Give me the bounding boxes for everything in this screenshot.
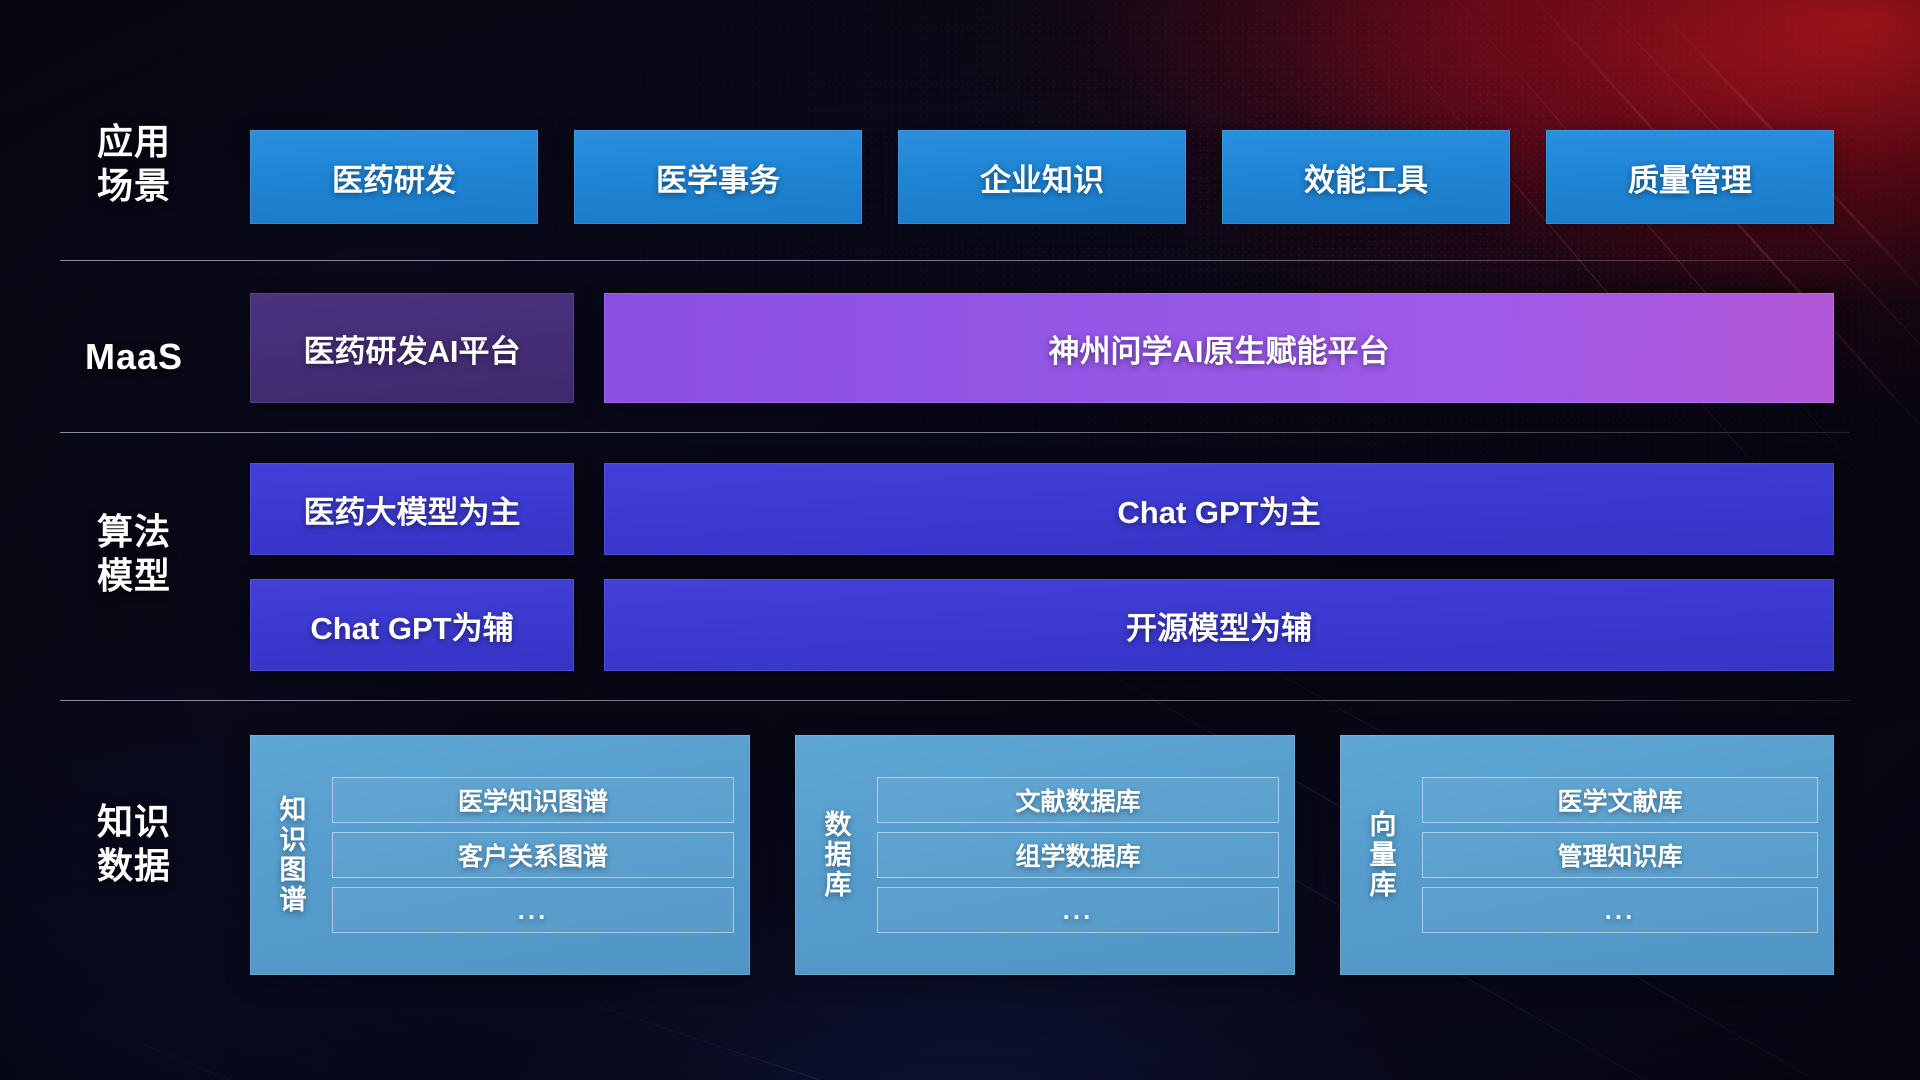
divider-1 [60,260,1850,261]
algo-tile-row0-left[interactable]: 医药大模型为主 [250,463,574,555]
app-tile-1[interactable]: 医学事务 [574,130,862,224]
app-tile-3[interactable]: 效能工具 [1222,130,1510,224]
layer-label-knowledge-data: 知识 数据 [70,800,198,888]
knowledge-item-2-2[interactable]: ... [1422,887,1818,933]
knowledge-panel-2-label: 向量库 [1354,810,1412,901]
algo-tile-row1-left-label: Chat GPT为辅 [310,603,513,648]
rail-line-2: 场景 [70,164,198,208]
knowledge-panel-1-items: 文献数据库 组学数据库 ... [867,777,1295,933]
knowledge-panel-wrap-1: 数据库 文献数据库 组学数据库 ... [795,735,1295,975]
knowledge-panel-wrap-2: 向量库 医学文献库 管理知识库 ... [1340,735,1834,975]
knowledge-item-1-2[interactable]: ... [877,887,1279,933]
maas-tile-medical-platform-label: 医药研发AI平台 [304,326,521,371]
knowledge-panel-database[interactable]: 数据库 文献数据库 组学数据库 ... [795,735,1295,975]
algo-tile-row0-right[interactable]: Chat GPT为主 [604,463,1834,555]
app-tile-2[interactable]: 企业知识 [898,130,1186,224]
knowledge-panel-2-items: 医学文献库 管理知识库 ... [1412,777,1834,933]
knowledge-panel-vector-store[interactable]: 向量库 医学文献库 管理知识库 ... [1340,735,1834,975]
architecture-diagram: 应用 场景 医药研发 医学事务 企业知识 效能工具 质量管理 MaaS 医药研发… [0,0,1920,1080]
algo-tile-row1-right-label: 开源模型为辅 [1126,603,1312,648]
app-tile-4[interactable]: 质量管理 [1546,130,1834,224]
layer-label-maas: MaaS [70,335,198,379]
knowledge-item-0-0[interactable]: 医学知识图谱 [332,777,734,823]
maas-tile-main-platform-label: 神州问学AI原生赋能平台 [1049,326,1390,371]
app-tile-2-label: 企业知识 [980,155,1104,200]
algo-tile-row1-left[interactable]: Chat GPT为辅 [250,579,574,671]
app-tile-4-label: 质量管理 [1628,155,1752,200]
rail-line-2: 模型 [70,554,198,598]
rail-line-1: 应用 [70,120,198,164]
knowledge-item-2-0[interactable]: 医学文献库 [1422,777,1818,823]
rail-line-maas: MaaS [70,335,198,379]
maas-tile-main-platform[interactable]: 神州问学AI原生赋能平台 [604,293,1834,403]
knowledge-panel-1-label: 数据库 [809,810,867,901]
divider-2 [60,432,1850,433]
algo-tile-row1-right[interactable]: 开源模型为辅 [604,579,1834,671]
knowledge-item-2-1[interactable]: 管理知识库 [1422,832,1818,878]
app-tile-3-label: 效能工具 [1304,155,1428,200]
algo-tile-row0-right-label: Chat GPT为主 [1117,487,1320,532]
algo-tile-row0-left-label: 医药大模型为主 [304,487,521,532]
knowledge-panel-wrap-0: 知识图谱 医学知识图谱 客户关系图谱 ... [250,735,750,975]
knowledge-panel-knowledge-graph[interactable]: 知识图谱 医学知识图谱 客户关系图谱 ... [250,735,750,975]
divider-3 [60,700,1850,701]
knowledge-item-0-1[interactable]: 客户关系图谱 [332,832,734,878]
rail-line-1: 算法 [70,510,198,554]
app-tile-1-label: 医学事务 [656,155,780,200]
app-tile-0[interactable]: 医药研发 [250,130,538,224]
knowledge-panel-0-items: 医学知识图谱 客户关系图谱 ... [322,777,750,933]
app-tile-0-label: 医药研发 [332,155,456,200]
knowledge-item-0-2[interactable]: ... [332,887,734,933]
layer-label-application-scenario: 应用 场景 [70,120,198,208]
knowledge-item-1-1[interactable]: 组学数据库 [877,832,1279,878]
knowledge-item-1-0[interactable]: 文献数据库 [877,777,1279,823]
knowledge-panel-0-label: 知识图谱 [264,795,322,916]
maas-tile-medical-platform[interactable]: 医药研发AI平台 [250,293,574,403]
rail-line-1: 知识 [70,800,198,844]
layer-label-algorithm-model: 算法 模型 [70,510,198,598]
rail-line-2: 数据 [70,844,198,888]
